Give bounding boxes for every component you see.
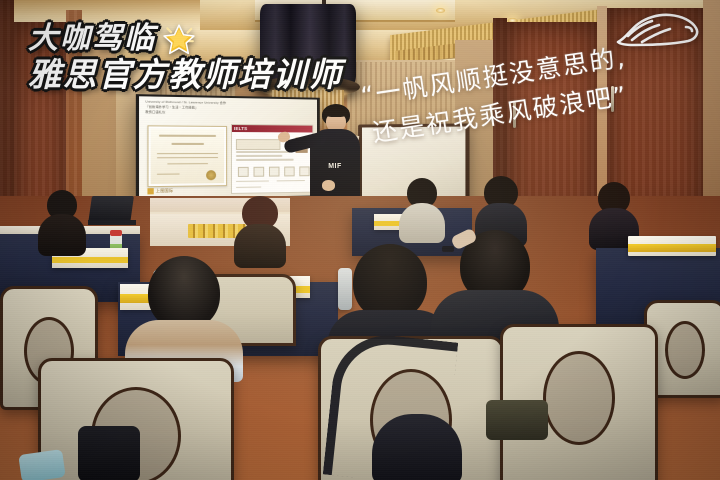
student-person — [232, 196, 288, 260]
bag — [486, 400, 548, 440]
face-mask-icon — [18, 449, 65, 480]
bottle-cap-icon — [110, 230, 122, 236]
pendant-lamp — [260, 4, 356, 86]
book-stack — [628, 236, 716, 256]
logo-square-icon — [147, 188, 153, 194]
student-person — [36, 190, 88, 252]
downlight-icon — [436, 8, 445, 13]
door-handle-icon — [611, 86, 614, 112]
backpack — [372, 414, 462, 480]
ielts-logo: IELTS — [234, 126, 247, 131]
presenter-fringe — [323, 106, 349, 117]
presenter-sweater-print: MIF — [322, 162, 348, 171]
slide-footer-logo: 上图国际 — [147, 188, 173, 195]
classroom-photo: University of Richmond / St. Lawrence Un… — [0, 0, 720, 480]
certificate-slide — [147, 125, 227, 187]
bag — [78, 426, 140, 480]
door-handle-icon — [513, 102, 516, 128]
slide-footer-logo-text: 上图国际 — [156, 188, 173, 194]
wristwatch-icon — [442, 246, 454, 252]
student-person — [398, 178, 446, 238]
slide-header-text: University of Richmond / St. Lawrence Un… — [145, 99, 311, 123]
laptop-base — [88, 220, 136, 225]
presenter-hand — [322, 180, 335, 191]
certificate-seal-icon — [206, 170, 216, 180]
